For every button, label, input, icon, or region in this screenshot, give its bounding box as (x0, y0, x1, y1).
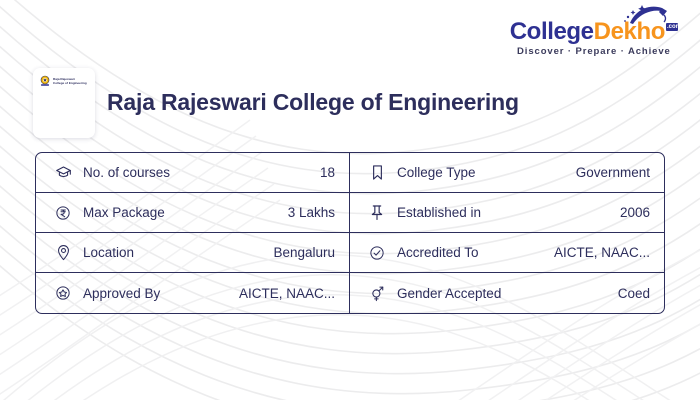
check-circle-icon (366, 244, 388, 262)
college-logo-card: Raja Rajeswari College of Engineering (33, 68, 95, 138)
fact-label: No. of courses (74, 165, 320, 180)
fact-value: Coed (618, 286, 650, 301)
brand-dotcom-badge: .com (666, 23, 678, 31)
college-logo-text: Raja Rajeswari College of Engineering (53, 77, 87, 85)
gender-icon (366, 284, 388, 302)
table-row[interactable]: College Type Government (350, 153, 664, 193)
star-badge-icon (52, 284, 74, 302)
brand-name-dekho: Dekho (594, 18, 665, 45)
fact-value: 2006 (620, 205, 650, 220)
collegedekho-logo[interactable]: CollegeDekho.com Discover · Prepare · Ac… (510, 20, 678, 57)
fact-value: 18 (320, 165, 335, 180)
college-logo-content: Raja Rajeswari College of Engineering (33, 68, 95, 87)
fact-label: Approved By (74, 286, 239, 301)
fact-value: AICTE, NAAC... (554, 245, 650, 260)
fact-label: Max Package (74, 205, 288, 220)
table-row[interactable]: Location Bengaluru (36, 233, 349, 273)
location-pin-icon (52, 244, 74, 262)
facts-column-left: No. of courses 18 Max Package 3 Lakhs (36, 153, 350, 313)
brand-name-college: College (510, 18, 594, 45)
table-row[interactable]: Gender Accepted Coed (350, 273, 664, 313)
college-crest-icon (39, 75, 51, 87)
rupee-circle-icon (52, 204, 74, 222)
table-row[interactable]: Max Package 3 Lakhs (36, 193, 349, 233)
fact-label: Established in (388, 205, 620, 220)
fact-label: Location (74, 245, 273, 260)
fact-label: Accredited To (388, 245, 554, 260)
fact-value: Government (576, 165, 650, 180)
graduation-cap-icon (52, 164, 74, 182)
fact-value: AICTE, NAAC... (239, 286, 335, 301)
brand-wordmark: CollegeDekho.com (510, 20, 678, 44)
bookmark-icon (366, 164, 388, 182)
fact-label: Gender Accepted (388, 286, 618, 301)
college-logo-line2: College of Engineering (53, 81, 87, 85)
fact-value: 3 Lakhs (288, 205, 335, 220)
table-row[interactable]: No. of courses 18 (36, 153, 349, 193)
facts-column-right: College Type Government Established in 2… (350, 153, 664, 313)
table-row[interactable]: Approved By AICTE, NAAC... (36, 273, 349, 313)
page-title: Raja Rajeswari College of Engineering (107, 89, 519, 116)
pushpin-icon (366, 204, 388, 222)
college-facts-table: No. of courses 18 Max Package 3 Lakhs (35, 152, 665, 314)
brand-tagline: Discover · Prepare · Achieve (510, 47, 678, 57)
fact-label: College Type (388, 165, 576, 180)
table-row[interactable]: Accredited To AICTE, NAAC... (350, 233, 664, 273)
fact-value: Bengaluru (273, 245, 335, 260)
table-row[interactable]: Established in 2006 (350, 193, 664, 233)
